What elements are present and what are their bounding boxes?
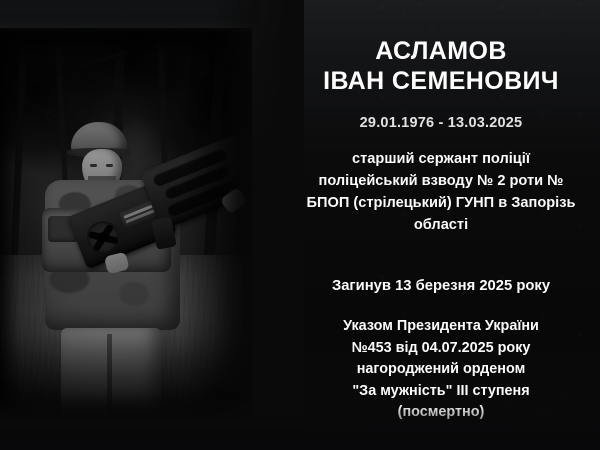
name-block: АСЛАМОВ ІВАН СЕМЕНОВИЧ <box>274 36 600 96</box>
surname: АСЛАМОВ <box>274 36 600 66</box>
award-block: Указом Президента України №453 від 04.07… <box>274 316 600 424</box>
soldier-legs <box>61 328 161 420</box>
memorial-text-column: АСЛАМОВ ІВАН СЕМЕНОВИЧ 29.01.1976 - 13.0… <box>282 0 600 450</box>
award-line-1: Указом Президента України <box>274 316 600 338</box>
rank-line-1: старший сержант поліції <box>274 148 600 170</box>
rank-line-2: поліцейський взводу № 2 роти № <box>274 170 600 192</box>
award-line-4: "За мужність" III ступеня <box>274 381 600 403</box>
rank-line-3: БПОП (стрілецький) ГУНП в Запорізь <box>274 192 600 214</box>
rank-unit-block: старший сержант поліції поліцейський взв… <box>274 148 600 236</box>
award-line-3: нагороджений орденом <box>274 359 600 381</box>
award-line-2: №453 від 04.07.2025 року <box>274 338 600 360</box>
death-date-block: Загинув 13 березня 2025 року <box>274 275 600 297</box>
rank-line-4: області <box>274 214 600 236</box>
award-line-5: (посмертно) <box>274 402 600 424</box>
cooling-fan-icon <box>82 217 124 259</box>
given-patronymic: ІВАН СЕМЕНОВИЧ <box>274 66 600 96</box>
life-dates-block: 29.01.1976 - 13.03.2025 <box>274 113 600 133</box>
soldier-photograph <box>0 28 252 420</box>
death-date-line: Загинув 13 березня 2025 року <box>274 275 600 297</box>
photo-scene <box>0 28 252 420</box>
soldier-figure <box>35 122 196 420</box>
eye <box>90 164 97 167</box>
life-dates: 29.01.1976 - 13.03.2025 <box>274 113 600 133</box>
memorial-card: АСЛАМОВ ІВАН СЕМЕНОВИЧ 29.01.1976 - 13.0… <box>0 0 600 450</box>
eye <box>106 164 113 167</box>
